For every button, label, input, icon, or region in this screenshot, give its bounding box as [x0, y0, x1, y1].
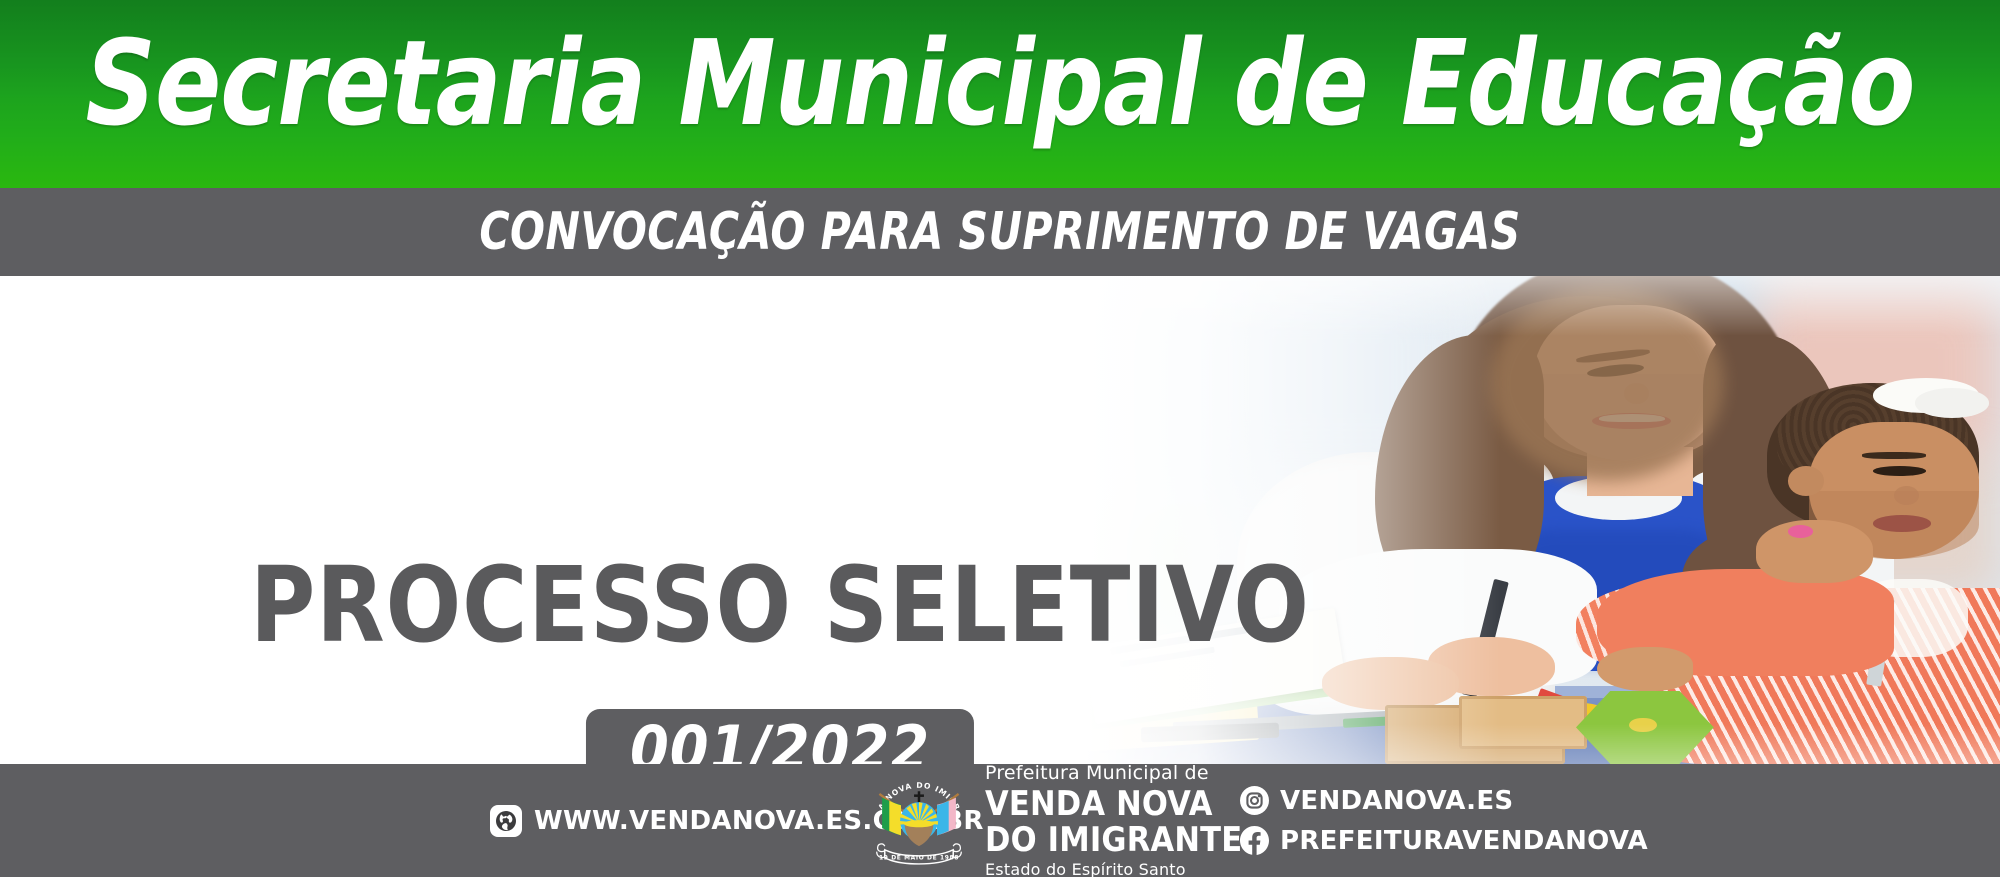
child-hand — [1756, 520, 1873, 583]
child-brow — [1862, 452, 1926, 459]
center-content: PROCESSO SELETIVO 001/2022 04/07/2025 — [0, 552, 1560, 764]
instagram-link[interactable]: VENDANOVA.ES — [1240, 786, 1648, 816]
photo-top-fade — [940, 276, 2000, 336]
facebook-handle: PREFEITURAVENDANOVA — [1280, 826, 1648, 856]
brand-text-block: Prefeitura Municipal de VENDA NOVA DO IM… — [985, 763, 1242, 877]
instagram-icon — [1240, 786, 1269, 815]
child-nail — [1788, 525, 1813, 538]
instagram-handle: VENDANOVA.ES — [1280, 786, 1513, 816]
brand-line-1: VENDA NOVA — [985, 785, 1242, 821]
department-title: Secretaria Municipal de Educação — [80, 8, 1920, 159]
brand-line-2: DO IMIGRANTE — [985, 822, 1242, 858]
announcement-banner: Secretaria Municipal de Educação CONVOCA… — [0, 0, 2000, 877]
social-links: VENDANOVA.ES PREFEITURAVENDANOVA — [1240, 786, 1648, 856]
process-title: PROCESSO SELETIVO — [39, 544, 1521, 666]
subtitle-text: CONVOCAÇÃO PARA SUPRIMENTO DE VAGAS — [120, 202, 1880, 262]
coat-of-arms-icon: VENDA NOVA DO IMIGRANTE — [865, 767, 973, 875]
child-eye — [1873, 466, 1926, 476]
process-number-badge: 001/2022 — [586, 709, 974, 764]
footer-bar: WWW.VENDANOVA.ES.GOV.BR VENDA NOVA DO IM… — [0, 764, 2000, 877]
svg-text:19 DE MAIO DE 1988: 19 DE MAIO DE 1988 — [879, 854, 959, 861]
city-brand: VENDA NOVA DO IMIGRANTE — [865, 763, 1242, 877]
facebook-icon — [1240, 826, 1269, 855]
child-finger — [1597, 647, 1692, 691]
child-ear — [1788, 466, 1824, 495]
main-body: PROCESSO SELETIVO 001/2022 04/07/2025 — [0, 276, 2000, 764]
child-mouth — [1873, 515, 1931, 532]
child-hair-bow — [1915, 388, 1989, 417]
green-header-bar: Secretaria Municipal de Educação — [0, 0, 2000, 188]
facebook-link[interactable]: PREFEITURAVENDANOVA — [1240, 826, 1648, 856]
brand-state: Estado do Espírito Santo — [985, 862, 1242, 877]
brand-prefix: Prefeitura Municipal de — [985, 763, 1242, 782]
footer-content: WWW.VENDANOVA.ES.GOV.BR VENDA NOVA DO IM… — [0, 764, 2000, 877]
globe-icon — [490, 805, 522, 837]
subtitle-bar: CONVOCAÇÃO PARA SUPRIMENTO DE VAGAS — [0, 188, 2000, 276]
